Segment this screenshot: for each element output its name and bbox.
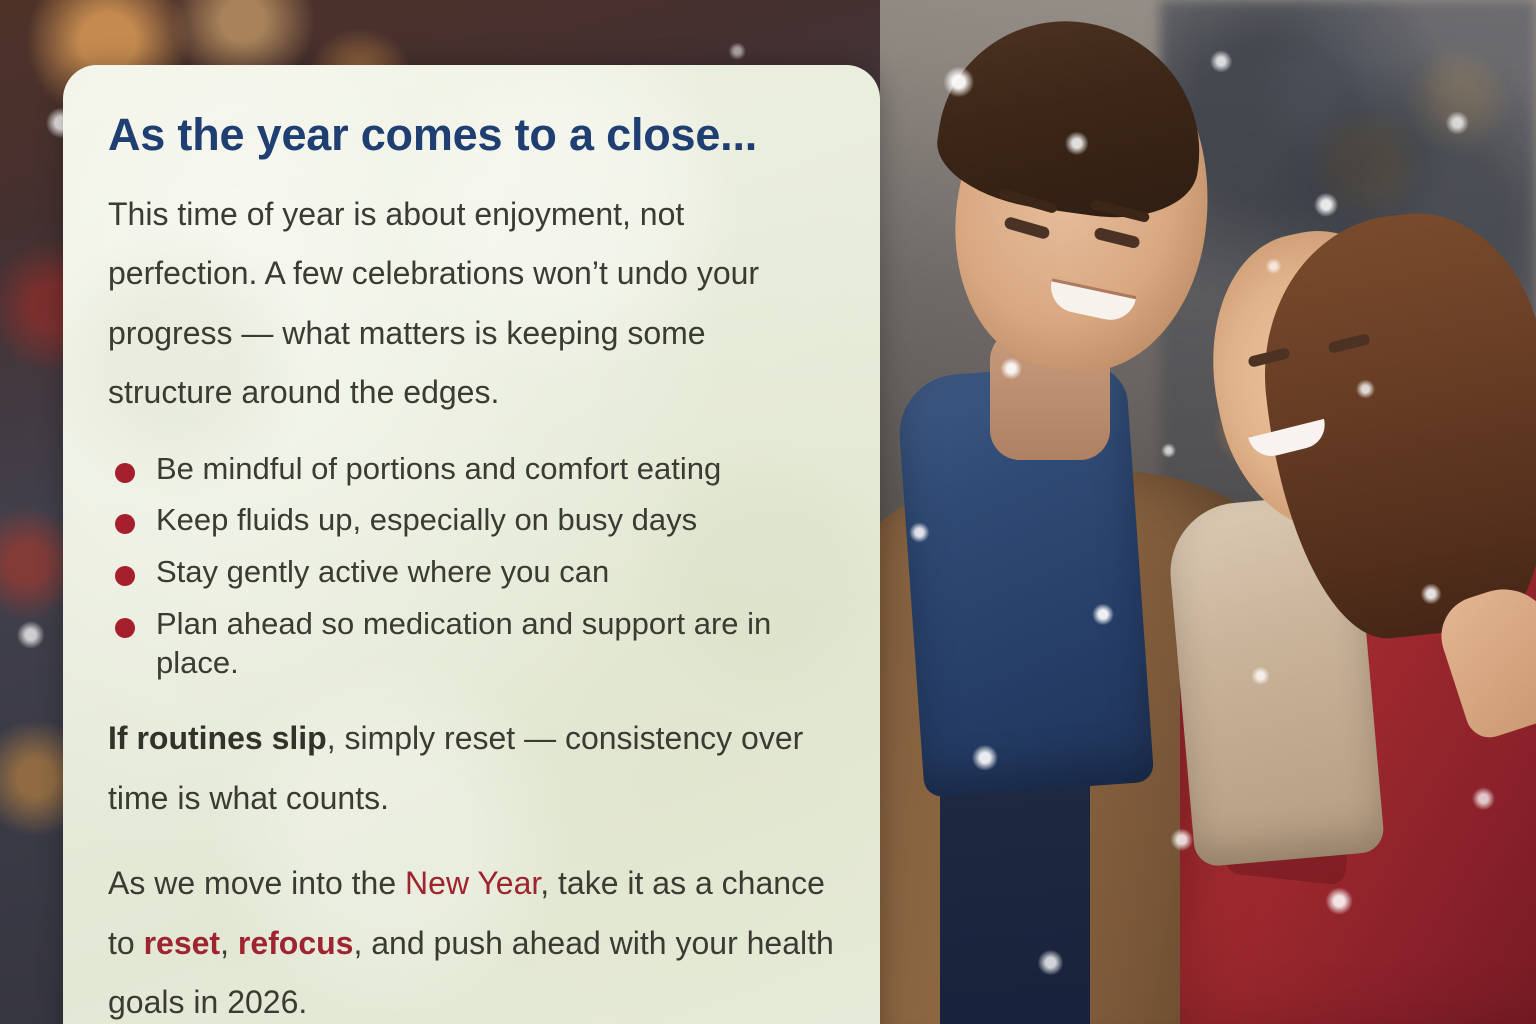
new-year-highlight: New Year xyxy=(405,865,540,901)
list-item-label: Plan ahead so medication and support are… xyxy=(156,606,771,681)
reset-paragraph-lead: If routines slip xyxy=(108,720,327,756)
list-item: Be mindful of portions and comfort eatin… xyxy=(108,449,836,489)
bullet-dot-icon xyxy=(115,463,135,483)
couple-photo xyxy=(880,0,1536,1024)
tips-list: Be mindful of portions and comfort eatin… xyxy=(108,449,836,683)
bullet-dot-icon xyxy=(115,566,135,586)
refocus-highlight: refocus xyxy=(238,925,354,961)
promo-poster: As the year comes to a close... This tim… xyxy=(0,0,1536,1024)
list-item-label: Be mindful of portions and comfort eatin… xyxy=(156,451,721,486)
intro-paragraph: This time of year is about enjoyment, no… xyxy=(108,185,836,423)
bullet-dot-icon xyxy=(115,514,135,534)
list-item: Plan ahead so medication and support are… xyxy=(108,604,836,683)
page-title: As the year comes to a close... xyxy=(108,111,836,159)
list-item: Stay gently active where you can xyxy=(108,552,836,592)
list-item-label: Keep fluids up, especially on busy days xyxy=(156,502,697,537)
closing-part-1: As we move into the xyxy=(108,865,405,901)
closing-part-5: . xyxy=(298,984,307,1020)
closing-part-3: , xyxy=(220,925,238,961)
reset-paragraph: If routines slip, simply reset — consist… xyxy=(108,709,836,828)
message-card: As the year comes to a close... This tim… xyxy=(63,65,880,1024)
list-item-label: Stay gently active where you can xyxy=(156,554,609,589)
bullet-dot-icon xyxy=(115,618,135,638)
reset-highlight: reset xyxy=(144,925,221,961)
closing-year: 2026 xyxy=(227,984,298,1020)
closing-paragraph: As we move into the New Year, take it as… xyxy=(108,854,836,1024)
list-item: Keep fluids up, especially on busy days xyxy=(108,500,836,540)
